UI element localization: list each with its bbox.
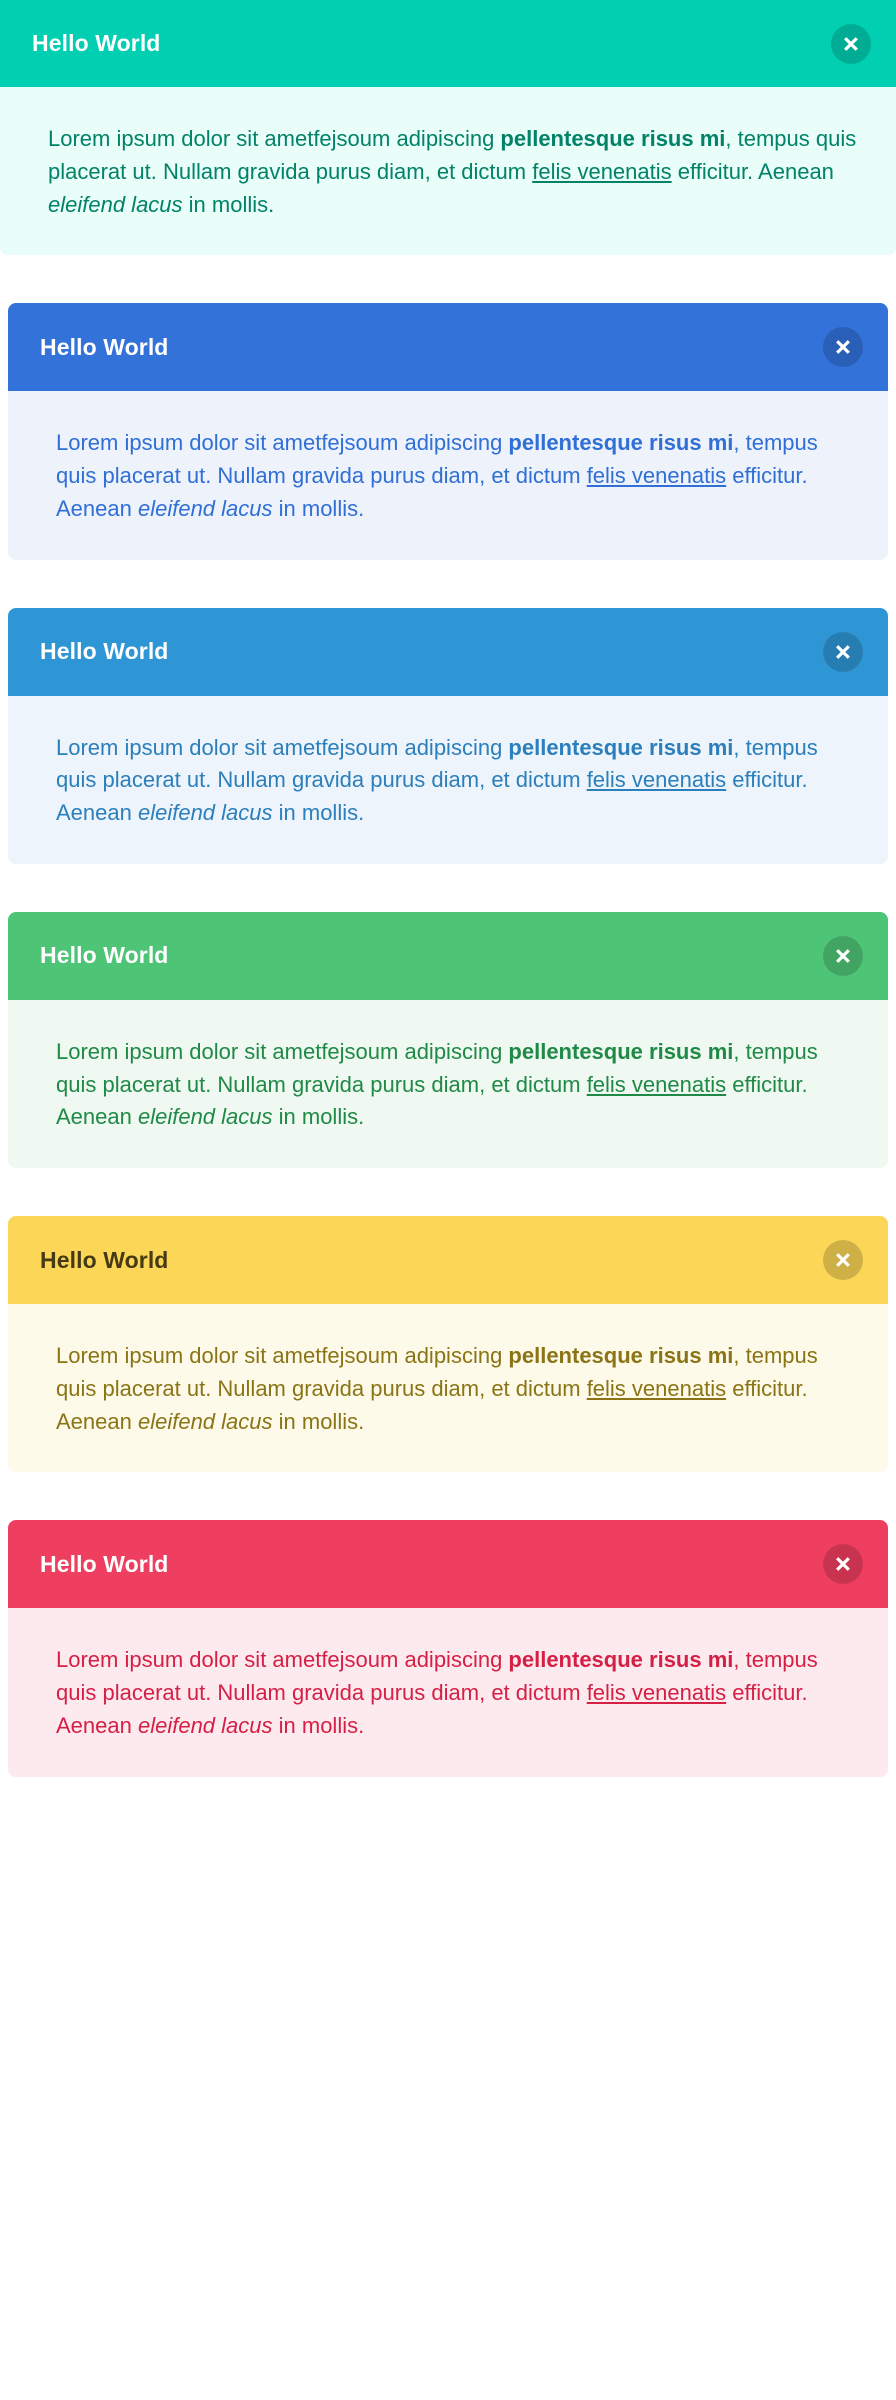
alert-text-lead: Lorem ipsum dolor sit ametfejsoum adipis…	[56, 1039, 508, 1064]
close-icon[interactable]	[823, 1544, 863, 1584]
close-icon[interactable]	[823, 327, 863, 367]
alert-header: Hello World	[0, 0, 896, 87]
alert-stack: Hello World Lorem ipsum dolor sit ametfe…	[0, 0, 896, 1777]
alert-title: Hello World	[40, 1553, 168, 1576]
alert-text-bold: pellentesque risus mi	[508, 1647, 733, 1672]
alert-text-tail: in mollis.	[273, 1713, 365, 1738]
alert-text-tail: in mollis.	[273, 496, 365, 521]
alert-paragraph: Lorem ipsum dolor sit ametfejsoum adipis…	[56, 427, 856, 525]
alert-text-bold: pellentesque risus mi	[508, 735, 733, 760]
alert-title: Hello World	[40, 640, 168, 663]
alert-body: Lorem ipsum dolor sit ametfejsoum adipis…	[0, 87, 896, 255]
alert-paragraph: Lorem ipsum dolor sit ametfejsoum adipis…	[56, 732, 856, 830]
alert-text-italic: eleifend lacus	[138, 1713, 273, 1738]
alert-text-bold: pellentesque risus mi	[500, 126, 725, 151]
alert-text-lead: Lorem ipsum dolor sit ametfejsoum adipis…	[56, 1647, 508, 1672]
alert-title: Hello World	[40, 1249, 168, 1272]
close-icon[interactable]	[823, 936, 863, 976]
alert-body: Lorem ipsum dolor sit ametfejsoum adipis…	[8, 696, 888, 864]
alert-link[interactable]: felis venenatis	[587, 463, 726, 488]
alert-warning: Hello World Lorem ipsum dolor sit ametfe…	[8, 1216, 888, 1472]
alert-header: Hello World	[8, 1216, 888, 1304]
alert-link[interactable]: felis venenatis	[587, 1376, 726, 1401]
alert-title: Hello World	[40, 336, 168, 359]
alert-header: Hello World	[8, 1520, 888, 1608]
alert-title: Hello World	[40, 944, 168, 967]
alert-title: Hello World	[32, 32, 160, 55]
alert-text-italic: eleifend lacus	[48, 192, 183, 217]
alert-paragraph: Lorem ipsum dolor sit ametfejsoum adipis…	[56, 1340, 856, 1438]
alert-text-tail: in mollis.	[273, 1409, 365, 1434]
alert-header: Hello World	[8, 608, 888, 696]
alert-success: Hello World Lorem ipsum dolor sit ametfe…	[8, 912, 888, 1168]
alert-body: Lorem ipsum dolor sit ametfejsoum adipis…	[8, 391, 888, 559]
alert-paragraph: Lorem ipsum dolor sit ametfejsoum adipis…	[48, 123, 864, 221]
alert-link[interactable]: felis venenatis	[532, 159, 671, 184]
alert-text-bold: pellentesque risus mi	[508, 430, 733, 455]
close-icon[interactable]	[823, 632, 863, 672]
alert-text-lead: Lorem ipsum dolor sit ametfejsoum adipis…	[48, 126, 500, 151]
alert-text-lead: Lorem ipsum dolor sit ametfejsoum adipis…	[56, 1343, 508, 1368]
alert-teal: Hello World Lorem ipsum dolor sit ametfe…	[0, 0, 896, 255]
alert-text-tail: in mollis.	[273, 800, 365, 825]
alert-link[interactable]: felis venenatis	[587, 1680, 726, 1705]
alert-danger: Hello World Lorem ipsum dolor sit ametfe…	[8, 1520, 888, 1776]
alert-text-italic: eleifend lacus	[138, 1409, 273, 1434]
alert-body: Lorem ipsum dolor sit ametfejsoum adipis…	[8, 1304, 888, 1472]
close-icon[interactable]	[823, 1240, 863, 1280]
alert-text-bold: pellentesque risus mi	[508, 1039, 733, 1064]
alert-text-bold: pellentesque risus mi	[508, 1343, 733, 1368]
alert-body: Lorem ipsum dolor sit ametfejsoum adipis…	[8, 1000, 888, 1168]
alert-header: Hello World	[8, 303, 888, 391]
close-icon[interactable]	[831, 24, 871, 64]
alert-text-lead: Lorem ipsum dolor sit ametfejsoum adipis…	[56, 735, 508, 760]
alert-paragraph: Lorem ipsum dolor sit ametfejsoum adipis…	[56, 1644, 856, 1742]
alert-text-lead: Lorem ipsum dolor sit ametfejsoum adipis…	[56, 430, 508, 455]
alert-text-italic: eleifend lacus	[138, 496, 273, 521]
alert-header: Hello World	[8, 912, 888, 1000]
alert-link[interactable]: felis venenatis	[587, 767, 726, 792]
alert-body: Lorem ipsum dolor sit ametfejsoum adipis…	[8, 1608, 888, 1776]
alert-text-italic: eleifend lacus	[138, 1104, 273, 1129]
alert-info: Hello World Lorem ipsum dolor sit ametfe…	[8, 608, 888, 864]
alert-text-tail: in mollis.	[183, 192, 275, 217]
alert-text-tail: in mollis.	[273, 1104, 365, 1129]
alert-link[interactable]: felis venenatis	[587, 1072, 726, 1097]
alert-paragraph: Lorem ipsum dolor sit ametfejsoum adipis…	[56, 1036, 856, 1134]
alert-text-italic: eleifend lacus	[138, 800, 273, 825]
alert-primary: Hello World Lorem ipsum dolor sit ametfe…	[8, 303, 888, 559]
alert-text-after-link: efficitur. Aenean	[672, 159, 834, 184]
